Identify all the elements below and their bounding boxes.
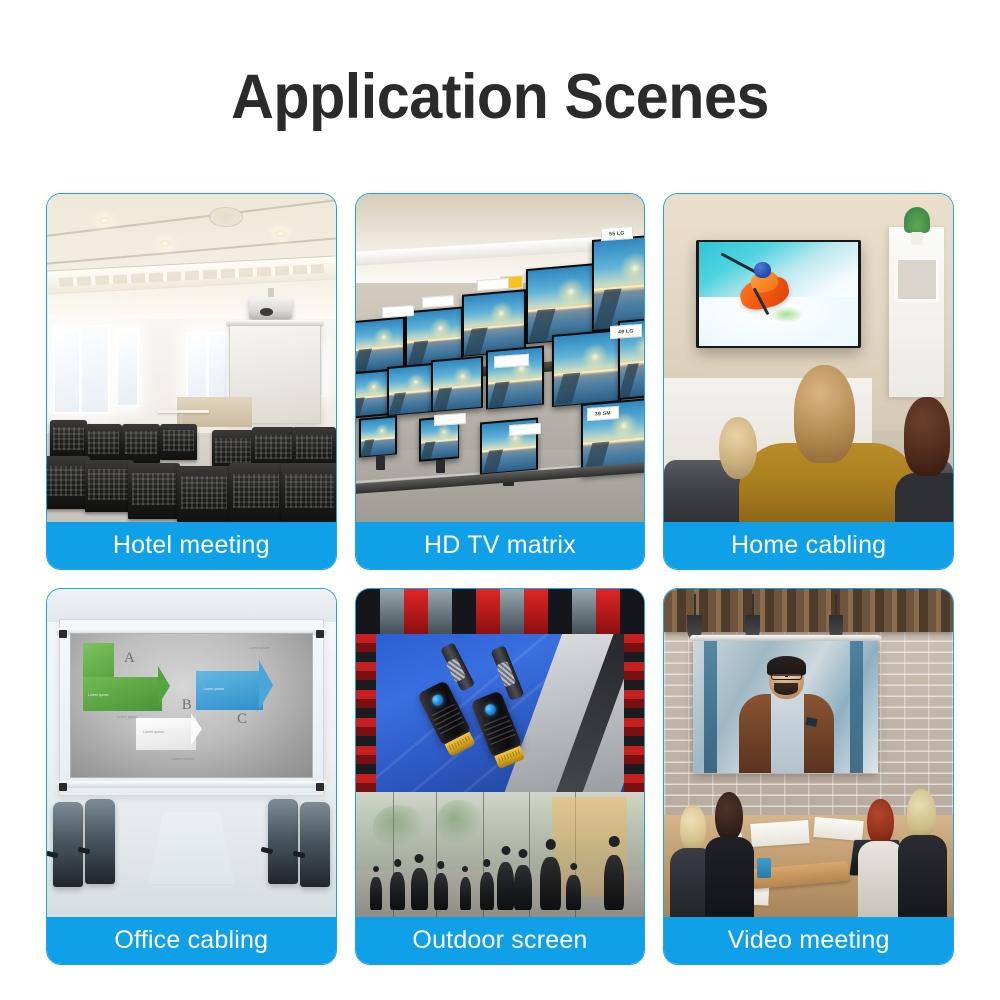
window-mullion <box>79 325 82 414</box>
rail-knob <box>59 630 67 638</box>
office-chair <box>85 799 115 884</box>
man-head <box>794 365 855 463</box>
scene-card-grid: Hotel meeting <box>46 193 954 965</box>
tv-screen <box>360 417 395 456</box>
price-tag <box>509 422 541 435</box>
water-highlight <box>769 306 804 323</box>
attendee-body <box>898 835 947 917</box>
led-side-strip <box>624 634 644 793</box>
pedestrian <box>566 875 580 910</box>
home-cabling-photo <box>664 194 953 522</box>
attendee-left-2 <box>705 792 754 917</box>
video-meeting-photo <box>664 589 953 917</box>
card-caption-video-meeting: Video meeting <box>664 917 953 964</box>
page-title: Application Scenes <box>30 0 970 129</box>
led-panel <box>404 589 428 634</box>
pedestrian <box>497 862 514 909</box>
infographic-label-c: C <box>237 711 247 728</box>
led-side-strip <box>356 634 376 793</box>
television <box>387 363 433 416</box>
infographic-label-b: B <box>182 697 192 714</box>
office-chair <box>268 799 298 884</box>
led-panel <box>476 589 500 634</box>
price-tag: 49 LG <box>610 324 642 339</box>
television <box>356 316 405 373</box>
window <box>116 328 139 407</box>
outdoor-screen-photo <box>356 589 645 917</box>
card-caption-hotel-meeting: Hotel meeting <box>47 522 336 569</box>
led-panel <box>452 589 476 634</box>
tv-screen <box>356 318 404 372</box>
cup <box>757 858 771 878</box>
chair <box>160 424 198 460</box>
price-tag: 39 SM <box>587 406 619 421</box>
projection-screen: A Lorem ipsum Lorem ipsum B Lorem ipsum … <box>70 633 312 777</box>
tv-stand <box>436 460 445 473</box>
infographic-caption-green: Lorem ipsum <box>88 693 136 698</box>
conference-table <box>148 812 235 884</box>
card-caption-hd-tv-matrix: HD TV matrix <box>356 522 645 569</box>
office-chair <box>53 802 83 887</box>
woman-body <box>895 473 953 522</box>
price-tag: 55 LG <box>601 226 633 241</box>
paper-document <box>750 820 809 847</box>
attendee-body <box>858 841 904 917</box>
scene-card-home-cabling[interactable]: Home cabling <box>663 193 954 570</box>
pedestrian <box>434 873 448 909</box>
card-caption-office-cabling: Office cabling <box>47 917 336 964</box>
tv-screen <box>594 235 644 330</box>
infographic-caption-blue: Lorem ipsum <box>203 687 246 692</box>
rail-knob <box>316 783 324 791</box>
office-chair <box>300 802 330 887</box>
hdmi-connector-right <box>470 690 522 756</box>
background-window <box>704 641 717 772</box>
chair <box>50 420 88 459</box>
attendee-head <box>715 792 743 842</box>
led-panel <box>356 589 380 634</box>
window-mullion <box>206 332 209 404</box>
pedestrian <box>604 855 624 910</box>
tv-screen <box>406 308 461 366</box>
card-caption-home-cabling: Home cabling <box>664 522 953 569</box>
pedestrian <box>540 857 560 909</box>
tv-screen <box>699 242 859 345</box>
television <box>431 356 483 413</box>
tv-screen <box>356 371 389 417</box>
chair <box>85 460 134 512</box>
price-tag <box>494 354 529 368</box>
tv-stand <box>376 456 385 469</box>
led-panel <box>428 589 452 634</box>
ceiling-vent <box>209 207 243 227</box>
scene-card-video-meeting[interactable]: Video meeting <box>663 588 954 965</box>
presenter-glasses <box>771 673 802 680</box>
infographic-arrowhead-blue <box>259 660 273 710</box>
office-cabling-photo: A Lorem ipsum Lorem ipsum B Lorem ipsum … <box>47 589 336 917</box>
attendee-head <box>680 805 706 852</box>
pocket-square <box>805 716 817 726</box>
infographic-arrowhead-white <box>191 713 202 745</box>
card-caption-outdoor-screen: Outdoor screen <box>356 917 645 964</box>
pedestrian <box>480 872 494 909</box>
television <box>359 415 397 458</box>
scene-card-office-cabling[interactable]: A Lorem ipsum Lorem ipsum B Lorem ipsum … <box>46 588 337 965</box>
hotel-meeting-photo <box>47 194 336 522</box>
pedestrian <box>514 865 531 910</box>
infographic-caption-white: Lorem ipsum <box>143 730 181 735</box>
woman-head <box>904 397 950 476</box>
infographic-note: Lorem ipsum <box>172 757 206 762</box>
led-panel <box>500 589 524 634</box>
child-head <box>719 417 757 479</box>
chair <box>47 456 90 508</box>
tv-screen <box>432 357 481 411</box>
tv-screen <box>389 364 432 414</box>
pedestrian <box>370 877 382 909</box>
attendee-right-1 <box>858 799 904 917</box>
television <box>552 329 621 407</box>
infographic-label-a: A <box>124 650 135 667</box>
shelving-unit <box>889 227 944 398</box>
rail-knob <box>59 783 67 791</box>
paper-document <box>814 817 865 841</box>
price-tag <box>422 295 454 308</box>
television <box>592 234 644 332</box>
window-artwork <box>373 805 425 847</box>
potted-plant <box>904 207 930 233</box>
application-scenes-page: Application Scenes <box>0 0 1000 1000</box>
attendee-right-2 <box>898 789 947 917</box>
billboard-content <box>376 634 624 793</box>
led-panel <box>548 589 572 634</box>
chair <box>229 463 284 522</box>
led-panel <box>572 589 596 634</box>
chair <box>177 466 232 522</box>
shelf-cube <box>895 257 939 301</box>
chair <box>128 463 180 519</box>
screen-rail-bottom <box>56 781 327 788</box>
led-top-strip <box>356 589 645 634</box>
ceiling-beams <box>664 589 953 632</box>
led-panel <box>620 589 644 634</box>
price-tag <box>434 413 466 426</box>
scene-card-hd-tv-matrix[interactable]: 55 LG 49 LG 39 SM HD TV matrix <box>355 193 646 570</box>
projection-screen <box>693 641 878 772</box>
chair <box>122 424 160 463</box>
led-panel <box>380 589 404 634</box>
rail-knob <box>316 630 324 638</box>
led-billboard <box>356 589 645 792</box>
scene-card-outdoor-screen[interactable]: Outdoor screen <box>355 588 646 965</box>
led-panel <box>524 589 548 634</box>
pedestrian <box>411 868 428 909</box>
price-tag <box>382 304 414 317</box>
pedestrian <box>460 877 472 909</box>
infographic-arrowhead-green <box>158 666 170 706</box>
ceiling <box>47 589 336 622</box>
window-artwork <box>436 800 482 845</box>
television <box>356 369 391 419</box>
led-panel <box>596 589 620 634</box>
infographic-note: Lorem ipsum <box>249 646 287 651</box>
attendee-head <box>907 789 936 840</box>
scene-card-hotel-meeting[interactable]: Hotel meeting <box>46 193 337 570</box>
hd-tv-matrix-photo: 55 LG 49 LG 39 SM <box>356 194 645 522</box>
attendee-body <box>705 837 754 917</box>
tv-screen <box>553 330 619 405</box>
tv-screen <box>464 291 525 356</box>
street-level <box>356 792 645 917</box>
downlight <box>160 240 171 247</box>
chair <box>281 463 336 522</box>
ceiling-projector <box>249 297 292 319</box>
presenter-shirt <box>771 694 804 773</box>
helmet <box>754 262 772 277</box>
attendee-head <box>867 799 894 846</box>
downlight <box>99 217 110 224</box>
background-window <box>850 641 863 772</box>
pedestrian <box>390 872 404 909</box>
wall-mounted-television <box>696 240 861 348</box>
chair <box>85 424 123 463</box>
